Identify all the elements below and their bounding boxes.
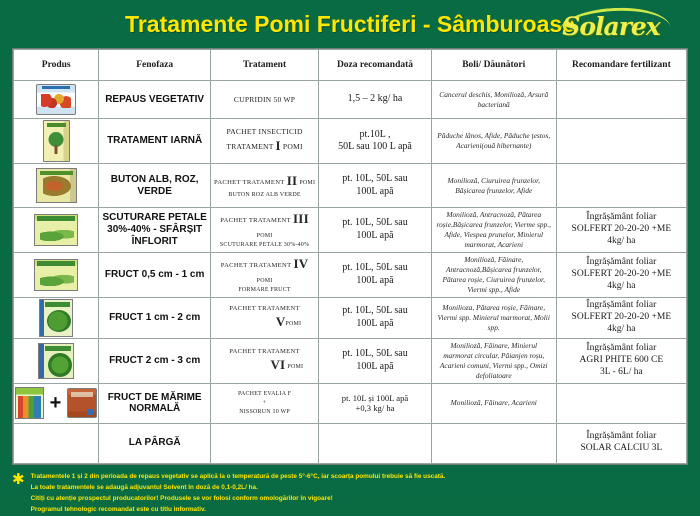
- footnotes-section: ✱ Tratamentele 1 și 2 din perioada de re…: [0, 465, 700, 516]
- fenofaza-cell: REPAUS VEGETATIV: [99, 81, 210, 119]
- boli-cell: Monilioza, Pătarea roșie, Făinare, Vierm…: [431, 297, 556, 338]
- table-row: FRUCT 0,5 cm - 1 cm PACHET TRATAMENT IV …: [14, 252, 687, 297]
- tratament-line-1-text: PACHET TRATAMENT: [214, 179, 285, 186]
- footnote-line: Citiți cu atenție prospectul producatori…: [31, 493, 446, 504]
- tratament-cell: PACHET EVALIA F + NISSORUN 10 WP: [210, 383, 318, 423]
- fertilizant-line-2: SOLFERT 20-20-20 +ME: [560, 224, 683, 236]
- doza-line-2: 100L apă: [322, 186, 428, 199]
- tratament-line-1: PACHET TRATAMENT II POMI: [214, 172, 315, 191]
- pachet-3-box-icon: [34, 214, 78, 246]
- fertilizant-line-3: 3L - 6L/ ha: [560, 367, 683, 379]
- tratament-line-1-text: PACHET TRATAMENT: [220, 217, 291, 224]
- logo-text: Solarex: [562, 12, 659, 41]
- footnote-line: La toate tratamentele se adaugă adjuvant…: [31, 482, 446, 493]
- doza-line-1: pt. 10L și 100L apă: [322, 393, 428, 404]
- doza-line-1: 1,5 – 2 kg/ ha: [322, 93, 428, 106]
- fertilizant-cell: Îngrășământ foliar SOLFERT 20-20-20 +ME …: [556, 297, 686, 338]
- product-thumbnails: [15, 259, 97, 291]
- fertilizant-cell: Îngrășământ foliar SOLAR CALCIU 3L: [556, 423, 686, 463]
- product-thumbnails: [15, 84, 97, 115]
- boli-cell: Păduche lânos, Afide, Păduche țestos, Ac…: [431, 119, 556, 164]
- tratament-line-1: PACHET EVALIA F: [214, 390, 315, 399]
- tratament-line-2: FORMARE FRUCT: [214, 286, 315, 295]
- asterisk-icon: ✱: [12, 472, 25, 487]
- pachet-2-box-icon: [36, 168, 77, 203]
- fertilizant-cell: Îngrășământ foliar SOLFERT 20-20-20 +ME …: [556, 208, 686, 253]
- table-row: LA PÂRGĂ Îngrășământ foliar SOLAR CALCIU…: [14, 423, 687, 463]
- tratament-cell: PACHET TRATAMENT II POMI BUTON ROZ ALB V…: [210, 164, 318, 208]
- fertilizant-line-1: Îngrășământ foliar: [560, 343, 683, 355]
- product-thumbnails: [15, 299, 97, 337]
- product-image-cell: [14, 338, 99, 383]
- tratament-cell: PACHET TRATAMENT VPOMI: [210, 297, 318, 338]
- column-header-doza: Doza recomandată: [319, 50, 432, 81]
- fertilizant-line-1: Îngrășământ foliar: [560, 212, 683, 224]
- doza-line-1: pt. 10L, 50L sau: [322, 217, 428, 230]
- fertilizant-line-2: SOLFERT 20-20-20 +ME: [560, 312, 683, 324]
- table-row: FRUCT 2 cm - 3 cm PACHET TRATAMENT VI PO…: [14, 338, 687, 383]
- boli-cell: Cancerul deschis, Monilioză, Arsură bact…: [431, 81, 556, 119]
- fertilizant-line-3: 4kg/ ha: [560, 236, 683, 248]
- doza-cell: pt.10L , 50L sau 100 L apă: [319, 119, 432, 164]
- doza-line-2: +0,3 kg/ ha: [322, 403, 428, 414]
- product-image-cell: [14, 119, 99, 164]
- doza-line-2: 100L apă: [322, 230, 428, 243]
- plus-sign-icon: +: [50, 393, 62, 413]
- doza-cell: pt. 10L, 50L sau 100L apă: [319, 164, 432, 208]
- doza-cell: pt. 10L, 50L sau 100L apă: [319, 338, 432, 383]
- roman-numeral: III: [293, 211, 309, 226]
- fertilizant-line-2: SOLFERT 20-20-20 +ME: [560, 269, 683, 281]
- solarex-logo: Solarex: [536, 6, 686, 46]
- fertilizant-cell: Îngrășământ foliar AGRI PHITE 600 CE 3L …: [556, 338, 686, 383]
- product-thumbnails: [15, 168, 97, 203]
- product-image-cell: [14, 252, 99, 297]
- cupridin-package-icon: [36, 84, 76, 115]
- doza-cell: [319, 423, 432, 463]
- tratament-line-1: PACHET TRATAMENT: [214, 304, 315, 314]
- column-header-boli: Boli/ Dăunători: [431, 50, 556, 81]
- tratament-cell: [210, 423, 318, 463]
- product-image-cell: [14, 423, 99, 463]
- doza-line-2: 50L sau 100 L apă: [322, 141, 428, 154]
- doza-line-2: 100L apă: [322, 318, 428, 331]
- tratament-line-1: CUPRIDIN 50 WP: [214, 94, 315, 105]
- tratament-line-2: SCUTURARE PETALE 30%-40%: [214, 241, 315, 250]
- fenofaza-cell: FRUCT 2 cm - 3 cm: [99, 338, 210, 383]
- column-header-fertilizant: Recomandare fertilizant: [556, 50, 686, 81]
- pachet-4-box-icon: [34, 259, 78, 291]
- product-image-cell: [14, 208, 99, 253]
- doza-cell: pt. 10L, 50L sau 100L apă: [319, 297, 432, 338]
- roman-numeral: IV: [294, 256, 309, 271]
- tratament-line-1-text: PACHET TRATAMENT: [221, 262, 292, 269]
- fenofaza-cell: TRATAMENT IARNĂ: [99, 119, 210, 164]
- doza-cell: pt. 10L, 50L sau 100L apă: [319, 208, 432, 253]
- doza-line-1: pt. 10L, 50L sau: [322, 262, 428, 275]
- boli-cell: Monilioză, Făinare, Minierul marmorat ci…: [431, 338, 556, 383]
- product-image-cell: [14, 297, 99, 338]
- fenofaza-cell: FRUCT 0,5 cm - 1 cm: [99, 252, 210, 297]
- boli-cell: Monilioză, Ciuruirea frunzelor, Bășicare…: [431, 164, 556, 208]
- fenofaza-cell: FRUCT DE MĂRIME NORMALĂ: [99, 383, 210, 423]
- fertilizant-line-3: 4kg/ ha: [560, 281, 683, 293]
- treatments-table-wrapper: Produs Fenofaza Tratament Doza recomanda…: [12, 48, 688, 465]
- tratament-cell: PACHET INSECTICID TRATAMENT I POMI: [210, 119, 318, 164]
- tratament-cell: PACHET TRATAMENT IV POMI FORMARE FRUCT: [210, 252, 318, 297]
- tratament-line-2: VPOMI: [214, 313, 315, 332]
- tratament-line-1-tail: POMI: [257, 233, 273, 239]
- boli-cell: Monilioză, Făinare, Antracnoză,Bășicarea…: [431, 252, 556, 297]
- product-image-cell: +: [14, 383, 99, 423]
- tratament-line-2-text: TRATAMENT: [226, 142, 273, 151]
- page-title: Tratamente Pomi Fructiferi - Sâmburoase: [125, 11, 575, 38]
- tratament-line-1-tail: POMI: [257, 278, 273, 284]
- boli-cell: Monilioză, Antracnoză, Pătarea roșie,Băș…: [431, 208, 556, 253]
- fertilizant-line-1: Îngrășământ foliar: [560, 431, 683, 443]
- product-thumbnails: [15, 343, 97, 379]
- table-row: TRATAMENT IARNĂ PACHET INSECTICID TRATAM…: [14, 119, 687, 164]
- footnote-line: Tratamentele 1 și 2 din perioada de repa…: [31, 471, 446, 482]
- fertilizant-line-3: 4kg/ ha: [560, 324, 683, 336]
- product-thumbnails: [15, 214, 97, 246]
- tratament-line-1: PACHET TRATAMENT: [214, 347, 315, 357]
- column-header-tratament: Tratament: [210, 50, 318, 81]
- tratament-line-2: BUTON ROZ ALB VERDE: [214, 191, 315, 200]
- poster-header: Tratamente Pomi Fructiferi - Sâmburoase …: [0, 0, 700, 48]
- doza-cell: pt. 10L, 50L sau 100L apă: [319, 252, 432, 297]
- tratament-line-2-tail: POMI: [285, 321, 301, 327]
- fertilizant-line-1: Îngrășământ foliar: [560, 257, 683, 269]
- table-row: BUTON ALB, ROZ, VERDE PACHET TRATAMENT I…: [14, 164, 687, 208]
- roman-numeral: II: [287, 173, 298, 188]
- footnote-line: Programul tehnologic recomandat este cu …: [31, 504, 446, 515]
- column-header-produs: Produs: [14, 50, 99, 81]
- product-thumbnails: +: [15, 387, 97, 419]
- roman-numeral: V: [276, 314, 286, 329]
- treatments-table: Produs Fenofaza Tratament Doza recomanda…: [13, 49, 687, 464]
- tratament-line-2-tail: POMI: [283, 142, 303, 151]
- fenofaza-cell: SCUTURARE PETALE 30%-40% - SFÂRȘIT ÎNFLO…: [99, 208, 210, 253]
- doza-line-1: pt. 10L, 50L sau: [322, 173, 428, 186]
- pachet-5-box-icon: [39, 299, 73, 337]
- fertilizant-cell: [556, 383, 686, 423]
- tratament-line-2: TRATAMENT I POMI: [214, 137, 315, 156]
- evalia-package-icon: [15, 387, 44, 419]
- fertilizant-line-1: Îngrășământ foliar: [560, 300, 683, 312]
- tratament-line-2: VI POMI: [214, 356, 315, 375]
- boli-cell: Monilioză, Făinare, Acarieni: [431, 383, 556, 423]
- poster-root: Tratamente Pomi Fructiferi - Sâmburoase …: [0, 0, 700, 494]
- footnotes-text: Tratamentele 1 și 2 din perioada de repa…: [31, 471, 446, 516]
- fenofaza-cell: BUTON ALB, ROZ, VERDE: [99, 164, 210, 208]
- fenofaza-cell: LA PÂRGĂ: [99, 423, 210, 463]
- doza-cell: pt. 10L și 100L apă +0,3 kg/ ha: [319, 383, 432, 423]
- boli-cell: [431, 423, 556, 463]
- tratament-line-1: PACHET TRATAMENT III POMI: [214, 210, 315, 241]
- table-header-row: Produs Fenofaza Tratament Doza recomanda…: [14, 50, 687, 81]
- product-image-cell: [14, 81, 99, 119]
- product-thumbnails: [15, 120, 97, 162]
- doza-line-1: pt. 10L, 50L sau: [322, 305, 428, 318]
- tratament-plus: +: [214, 399, 315, 408]
- doza-line-1: pt. 10L, 50L sau: [322, 348, 428, 361]
- fertilizant-line-2: SOLAR CALCIU 3L: [560, 443, 683, 455]
- tratament-cell: PACHET TRATAMENT VI POMI: [210, 338, 318, 383]
- roman-numeral: I: [276, 138, 281, 153]
- tratament-cell: PACHET TRATAMENT III POMI SCUTURARE PETA…: [210, 208, 318, 253]
- table-row: REPAUS VEGETATIV CUPRIDIN 50 WP 1,5 – 2 …: [14, 81, 687, 119]
- roman-numeral: VI: [270, 357, 285, 372]
- nissorun-package-icon: [67, 388, 97, 418]
- tratament-line-1-tail: POMI: [299, 180, 315, 186]
- column-header-fenofaza: Fenofaza: [99, 50, 210, 81]
- doza-cell: 1,5 – 2 kg/ ha: [319, 81, 432, 119]
- table-row: FRUCT 1 cm - 2 cm PACHET TRATAMENT VPOMI…: [14, 297, 687, 338]
- fertilizant-line-2: AGRI PHITE 600 CE: [560, 355, 683, 367]
- tratament-line-2: NISSORUN 10 WP: [214, 408, 315, 417]
- tratament-line-1: PACHET TRATAMENT IV POMI: [214, 255, 315, 286]
- table-row: SCUTURARE PETALE 30%-40% - SFÂRȘIT ÎNFLO…: [14, 208, 687, 253]
- fertilizant-cell: [556, 164, 686, 208]
- fertilizant-cell: [556, 119, 686, 164]
- fertilizant-cell: [556, 81, 686, 119]
- doza-line-2: 100L apă: [322, 361, 428, 374]
- tratament-line-1: PACHET INSECTICID: [214, 126, 315, 137]
- fenofaza-cell: FRUCT 1 cm - 2 cm: [99, 297, 210, 338]
- tratament-iarna-box-icon: [43, 120, 70, 162]
- pachet-6-box-icon: [38, 343, 74, 379]
- table-row: + FRUCT DE MĂRIME NORMALĂ PACHET EVALIA …: [14, 383, 687, 423]
- product-image-cell: [14, 164, 99, 208]
- fertilizant-cell: Îngrășământ foliar SOLFERT 20-20-20 +ME …: [556, 252, 686, 297]
- tratament-line-2-tail: POMI: [287, 364, 303, 370]
- doza-line-2: 100L apă: [322, 275, 428, 288]
- doza-line-1: pt.10L ,: [322, 129, 428, 142]
- tratament-cell: CUPRIDIN 50 WP: [210, 81, 318, 119]
